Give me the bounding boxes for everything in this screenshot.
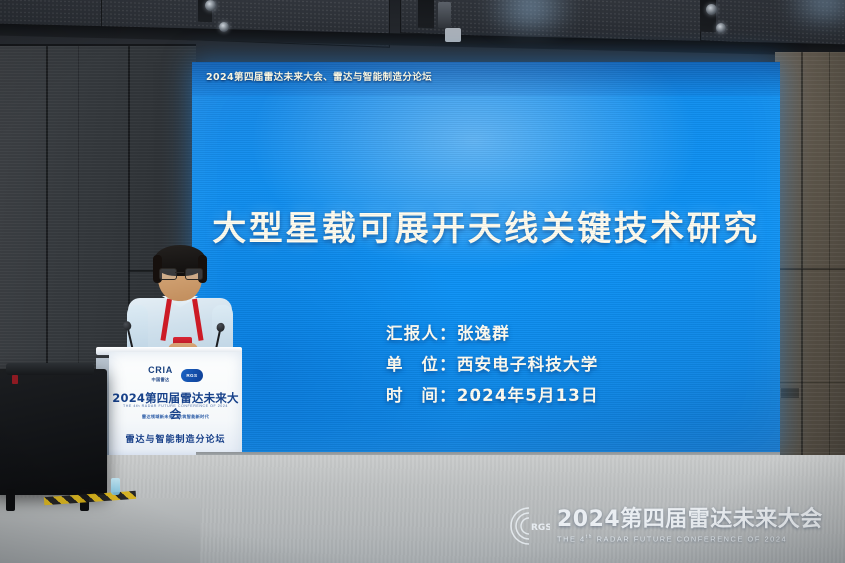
watermark-subtitle-post: RADAR FUTURE CONFERENCE OF 2024 [593,535,787,544]
watermark-text-block: 2024第四届雷达未来大会 THE 4th RADAR FUTURE CONFE… [557,508,823,543]
podium-logo-row: CRIA 中国雷达 RGS [109,366,242,384]
water-bottle [111,478,120,495]
slide-title: 大型星载可展开天线关键技术研究 [192,201,780,250]
meta-label-presenter: 汇报人： [386,318,457,349]
ceiling-beam [418,0,434,28]
floor-foreground [0,498,200,563]
watermark-subtitle-sup: th [586,534,593,540]
slide-meta-block: 汇报人：张逸群 单 位：西安电子科技大学 时 间：2024年5月13日 [386,318,599,411]
led-presentation-screen: 2024第四届雷达未来大会、雷达与智能制造分论坛 大型星载可展开天线关键技术研究… [192,62,780,456]
ceiling-light [205,0,216,11]
rgs-logo-icon: RGS [508,505,550,547]
meta-value-presenter: 张逸群 [457,324,510,343]
watermark-subtitle-pre: THE 4 [557,535,586,544]
equipment-case [0,369,107,495]
wall-right [775,52,845,522]
cria-logo-text: CRIA [148,365,173,375]
equipment-case-marker [12,375,18,384]
conference-photo-scene: 2024第四届雷达未来大会、雷达与智能制造分论坛 大型星载可展开天线关键技术研究… [0,0,845,563]
equipment-case-leg [6,489,15,511]
ceiling-light [716,23,726,33]
meta-value-date: 2024年5月13日 [457,386,599,405]
conference-watermark: RGS 2024第四届雷达未来大会 THE 4th RADAR FUTURE C… [508,500,828,552]
slide-meta-row-date: 时 间：2024年5月13日 [386,380,599,411]
podium-tagline: 雷达领域新未来 共筑智能新时代 [109,414,242,420]
cria-logo: CRIA 中国雷达 [148,366,173,384]
meta-label-date: 时 间： [386,380,457,411]
podium-conference-subtitle: THE 4th RADAR FUTURE CONFERENCE OF 2024 [109,404,242,408]
ceiling-light [219,22,229,32]
slide-meta-row-presenter: 汇报人：张逸群 [386,318,599,349]
slide-meta-row-affiliation: 单 位：西安电子科技大学 [386,349,599,380]
cria-logo-subtext: 中国雷达 [148,375,173,384]
speaker-glasses [159,268,201,278]
podium-forum-name: 雷达与智能制造分论坛 [109,432,242,445]
watermark-title: 2024第四届雷达未来大会 [557,508,823,532]
rgs-logo-podium-text: RGS [186,373,197,378]
watermark-subtitle: THE 4th RADAR FUTURE CONFERENCE OF 2024 [557,534,823,543]
rgs-logo-label: RGS [531,523,550,533]
ceiling-speaker [438,2,451,28]
ceiling-light [706,4,717,15]
rgs-logo-podium: RGS [181,369,203,382]
meta-value-affiliation: 西安电子科技大学 [457,355,599,374]
equipment-case-lid [6,363,94,375]
slide-banner-text: 2024第四届雷达未来大会、雷达与智能制造分论坛 [206,69,432,83]
ceiling-speaker [445,28,461,42]
meta-label-affiliation: 单 位： [386,349,457,380]
